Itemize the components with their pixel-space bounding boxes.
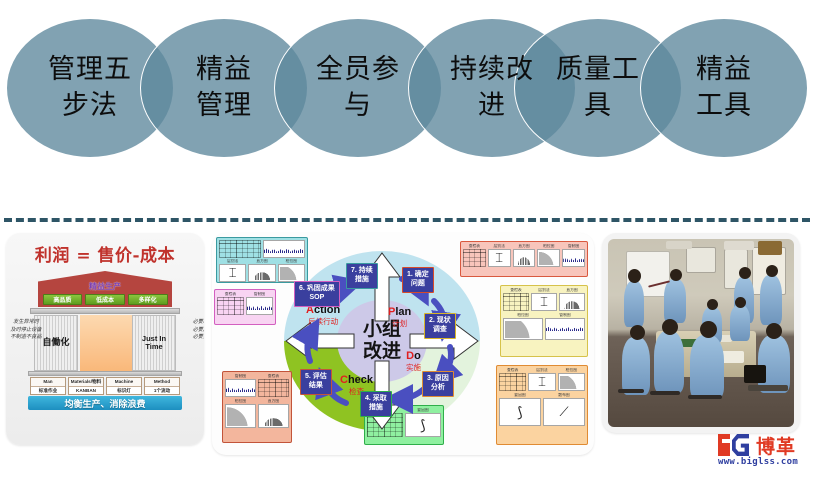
mini-stratification — [488, 249, 511, 267]
satellite-mid-left[interactable]: 查检表 管制图 — [214, 289, 276, 325]
mini-checksheet — [503, 293, 529, 311]
mini-histogram — [513, 249, 536, 267]
air-vent — [666, 241, 692, 249]
cap-fishbone: 要因图 — [499, 393, 541, 397]
logo-mark-icon — [718, 434, 752, 456]
mini-checksheet — [499, 373, 526, 391]
wall-poster-1 — [686, 247, 716, 273]
wall-plaque — [758, 241, 782, 255]
cap-pareto: 柏拉图 — [558, 368, 585, 372]
cell-method-value: 1个流动 — [145, 387, 179, 396]
cell-man-value: 标准作业 — [31, 387, 65, 396]
presenter — [664, 279, 686, 323]
cap-scatter: 散布图 — [543, 393, 585, 397]
step-2-num: 2. — [429, 317, 435, 324]
cap-histogram: 直方图 — [513, 244, 536, 248]
cap-controlchart: 管制图 — [562, 244, 585, 248]
step-3[interactable]: 3. 原因 分析 — [422, 371, 454, 397]
profit-formula: 利润 = 售价-成本 — [6, 241, 204, 266]
cell-man: Man 标准作业 — [30, 377, 66, 395]
mini-checksheet — [217, 297, 244, 315]
cell-machine: Machine 标识灯 — [106, 377, 142, 395]
seated-person-back-2 — [730, 305, 750, 341]
mini-control-chart — [562, 249, 585, 267]
cap-checksheet: 查检表 — [217, 292, 244, 296]
cap-checksheet: 查检表 — [503, 288, 529, 292]
mini-histogram — [248, 264, 275, 282]
cap-histogram: 直方图 — [559, 288, 585, 292]
standing-person-right — [760, 275, 782, 325]
lean-production-house-panel[interactable]: 利润 = 售价-成本 精益生产 高品质 低成本 多样化 自働化 Just In … — [6, 233, 204, 445]
house-core — [80, 315, 132, 371]
mini-control-chart — [225, 379, 256, 397]
roof-label: 精益生产 — [38, 281, 172, 292]
mini-pareto — [503, 318, 543, 340]
step-2[interactable]: 2. 现状 调查 — [424, 313, 456, 339]
step-1-label: 确定 问题 — [411, 271, 429, 287]
pdca-improvement-panel[interactable]: 层别法 直方图 柏拉图 查检表 管制图 管制图 查检表 — [212, 233, 594, 455]
seated-person-front-3-head — [700, 321, 717, 338]
chair-1 — [618, 389, 644, 393]
bag — [744, 365, 766, 383]
mini-control-chart — [246, 297, 273, 315]
step-7[interactable]: 7. 持续 措施 — [346, 263, 378, 289]
step-6[interactable]: 6. 巩固成果 SOP — [294, 281, 340, 307]
chair-4 — [748, 385, 788, 391]
step-7-label: 持续 措施 — [355, 267, 373, 283]
mini-stratification — [528, 373, 555, 391]
note-jidoka: 发生异常时 及时停止设备 不制造不良品 — [6, 319, 46, 342]
house-pillar-zone: 自働化 Just In Time — [30, 315, 180, 371]
standing-person-left — [624, 281, 644, 327]
logo-letter-b-icon — [718, 434, 730, 456]
mini-checksheet — [219, 240, 261, 258]
seated-person-front-3 — [690, 335, 724, 399]
step-3-num: 3. — [427, 375, 433, 382]
pdca-wheel[interactable]: 小组 改进 Plan 计划 Do 实施 Check 检查 Action 后续行动 — [284, 251, 480, 431]
step-5[interactable]: 5. 评估 结果 — [300, 369, 332, 395]
standing-person-right-head — [766, 265, 778, 277]
cap-controlchart: 管制图 — [225, 374, 256, 378]
seated-person-front-2 — [654, 331, 684, 393]
satellite-bottom-right[interactable]: 查检表 层别法 柏拉图 要因图 散布图 — [496, 365, 588, 445]
roof-goal-bar: 高品质 低成本 多样化 — [38, 292, 172, 307]
team-meeting-photo — [608, 239, 794, 427]
bottom-content-row: 利润 = 售价-成本 精益生产 高品质 低成本 多样化 自働化 Just In … — [0, 230, 814, 480]
mini-pareto — [558, 373, 585, 391]
cell-materials: Materials/物料 KANBAN — [68, 377, 104, 395]
lean-house-diagram: 精益生产 高品质 低成本 多样化 自働化 Just In Time 发生异常时 … — [20, 271, 190, 406]
seated-person-back-1-head — [707, 299, 718, 310]
roof-chip-variety: 多样化 — [128, 294, 168, 305]
mini-control-chart — [545, 318, 585, 340]
seated-person-front-1 — [622, 337, 650, 395]
company-logo[interactable]: 博革 www.biglss.com — [718, 432, 810, 474]
cell-machine-value: 标识灯 — [107, 387, 141, 396]
top-ellipse-band: 管理五 步法 精益 管理 全员参 与 持续改 进 质量工 具 精益 工具 — [0, 0, 814, 200]
cap-controlchart: 管制图 — [545, 313, 585, 317]
logo-letter-g-icon — [732, 434, 749, 456]
logo-website-url: www.biglss.com — [718, 457, 798, 467]
house-stylobate — [28, 371, 182, 376]
air-conditioner — [724, 241, 754, 250]
seated-person-front-2-head — [662, 319, 678, 335]
cap-stratification: 层别法 — [531, 288, 557, 292]
chair-2 — [650, 391, 680, 395]
seated-person-back-2-head — [735, 297, 746, 308]
house-foundation: 均衡生产、消除浪费 — [28, 396, 182, 410]
chair-3 — [688, 395, 722, 399]
house-entablature — [30, 308, 180, 314]
roof-chip-quality: 高品质 — [43, 294, 83, 305]
pillar-jit: Just In Time — [132, 315, 176, 371]
dashed-divider — [4, 218, 810, 222]
cell-method-title: Method — [145, 378, 179, 387]
cap-stratification: 层别法 — [488, 244, 511, 248]
step-2-label: 现状 调查 — [433, 317, 451, 333]
cap-histogram: 直方图 — [248, 259, 275, 263]
mini-stratification — [531, 293, 557, 311]
step-4-label: 采取 措施 — [369, 395, 387, 411]
logo-company-name: 博革 — [756, 432, 796, 459]
house-4m-grid: Man 标准作业 Materials/物料 KANBAN Machine 标识灯… — [30, 377, 180, 395]
mini-pareto — [537, 249, 560, 267]
step-6-num: 6. — [299, 285, 305, 292]
step-1[interactable]: 1. 确定 问题 — [402, 267, 434, 293]
cap-pareto: 柏拉图 — [225, 399, 256, 403]
team-meeting-photo-panel[interactable] — [602, 233, 800, 433]
cap-controlchart: 管制图 — [246, 292, 273, 296]
cell-method: Method 1个流动 — [144, 377, 180, 395]
cap-checksheet: 查检表 — [499, 368, 526, 372]
step-4-num: 4. — [365, 395, 371, 402]
step-6-label: 巩固成果 SOP — [307, 285, 335, 301]
cell-materials-value: KANBAN — [69, 387, 103, 396]
mini-histogram — [559, 293, 585, 311]
house-roof: 精益生产 — [38, 271, 172, 293]
step-5-num: 5. — [305, 373, 311, 380]
ellipse-6[interactable]: 精益 工具 — [640, 18, 808, 158]
step-4[interactable]: 4. 采取 措施 — [360, 391, 392, 417]
standing-person-mid-head — [739, 267, 751, 279]
step-3-label: 原因 分析 — [431, 375, 449, 391]
cell-materials-title: Materials/物料 — [69, 378, 103, 387]
seated-person-right-side-head — [766, 323, 782, 339]
cap-stratification: 层别法 — [219, 259, 246, 263]
step-5-label: 评估 结果 — [309, 373, 327, 389]
cap-stratification: 层别法 — [528, 368, 555, 372]
seated-person-front-1-head — [630, 325, 645, 340]
cap-pareto: 柏拉图 — [503, 313, 543, 317]
step-1-num: 1. — [407, 271, 413, 278]
presenter-head — [670, 269, 682, 281]
roof-chip-cost: 低成本 — [85, 294, 125, 305]
standing-person-left-head — [628, 269, 641, 283]
satellite-mid-right[interactable]: 查检表 层别法 直方图 柏拉图 管制图 — [500, 285, 588, 357]
cap-pareto: 柏拉图 — [537, 244, 560, 248]
cell-man-title: Man — [31, 378, 65, 387]
mini-scatter — [543, 398, 585, 426]
mini-stratification — [219, 264, 246, 282]
mini-fishbone — [499, 398, 541, 426]
note-jit: 必要时间 必要产品 必要数量 — [183, 319, 204, 342]
cell-machine-title: Machine — [107, 378, 141, 387]
step-7-num: 7. — [351, 267, 357, 274]
mini-pareto — [225, 404, 256, 428]
cap-checksheet: 查检表 — [463, 244, 486, 248]
satellite-bottom-left[interactable]: 管制图 查检表 柏拉图 直方图 — [222, 371, 292, 443]
ellipse-label: 精益 工具 — [640, 18, 808, 158]
